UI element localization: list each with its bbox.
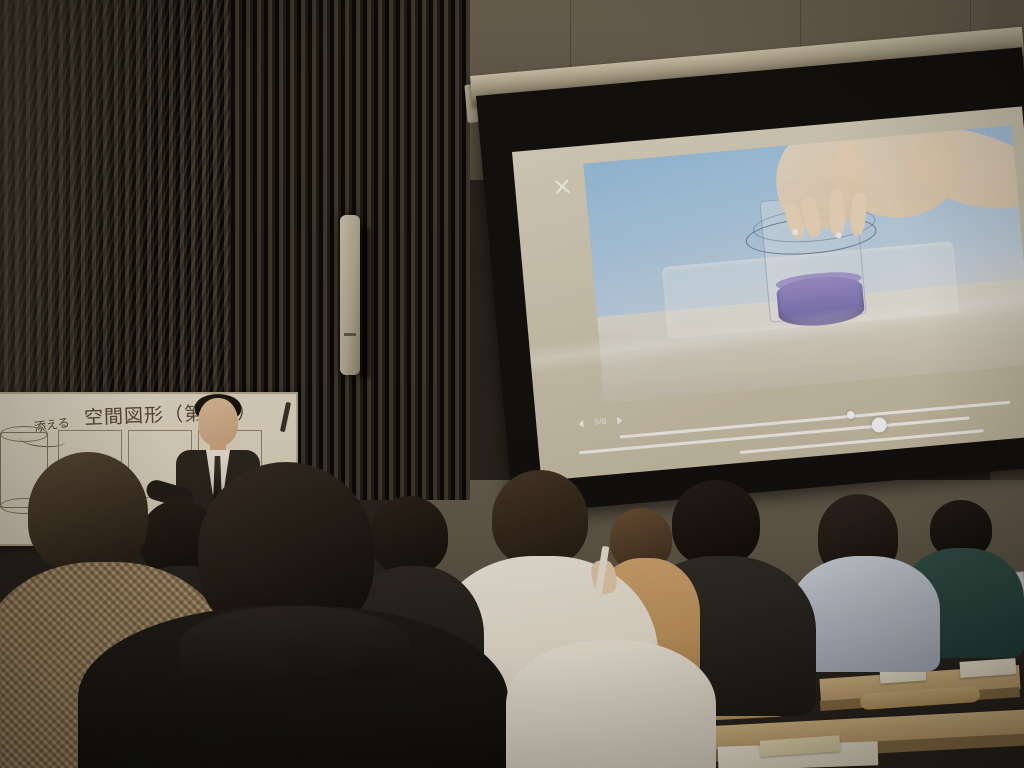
- chevron-left-icon[interactable]: [578, 419, 584, 427]
- whiteboard-marker: [280, 402, 291, 432]
- attendee-front-white: [506, 640, 716, 768]
- scrub-position-handle[interactable]: [871, 417, 887, 433]
- attendee-head: [672, 480, 760, 566]
- chevron-right-icon[interactable]: [617, 416, 623, 424]
- pagination-controls[interactable]: 5/8: [578, 415, 623, 428]
- attendee-head: [370, 496, 448, 574]
- lecture-hall-photo: 5/8 空間図形（第1回） 添える: [0, 0, 1024, 768]
- page-indicator: 5/8: [594, 417, 607, 427]
- wall-light-fixture: [340, 215, 360, 375]
- attendee-head: [28, 452, 148, 572]
- playback-progress-handle[interactable]: [846, 411, 855, 420]
- close-icon[interactable]: [553, 177, 573, 197]
- wall-fixture-shadow: [360, 228, 370, 378]
- geometry-demo-video[interactable]: [583, 125, 1024, 402]
- projected-image-area: 5/8: [512, 106, 1024, 480]
- jacket-hood: [180, 606, 410, 680]
- presenter-head: [198, 398, 238, 446]
- attendee-head: [492, 470, 588, 566]
